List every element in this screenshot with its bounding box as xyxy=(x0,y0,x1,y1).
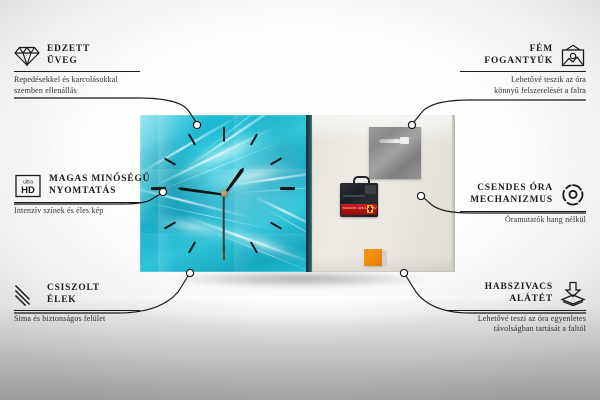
clock-face xyxy=(140,115,308,272)
callout-desc-line1: Intenzív színek és éles kép xyxy=(14,206,140,216)
clock-tick xyxy=(250,241,258,253)
callout-edzett-uveg[interactable]: EDZETT ÜVEG Repedésekkel és karcolásokka… xyxy=(14,44,140,96)
callout-rule xyxy=(14,71,140,72)
foam-pad xyxy=(364,249,382,266)
callout-csiszolt-elek[interactable]: CSISZOLT ÉLEK Sima és biztonságos felüle… xyxy=(14,283,140,325)
product-image: MIGNON LR6 AA 1.5V xyxy=(140,115,453,272)
callout-rule xyxy=(14,202,140,203)
callout-desc-line1: Óramutatók hang nélkül xyxy=(460,215,586,225)
callout-title-line1: EDZETT xyxy=(47,44,90,56)
foam-pad-icon xyxy=(560,281,586,306)
callout-rule xyxy=(446,310,586,311)
callout-desc-line1: Lehetővé teszik az óra xyxy=(460,75,586,85)
clock-tick xyxy=(270,221,282,229)
callout-csendes-ora-mechanizmus[interactable]: CSENDES ÓRA MECHANIZMUS Óramutatók hang … xyxy=(460,182,586,225)
callout-desc-line1: Repedésekkel és karcolásokkal xyxy=(14,75,140,85)
clock-front-panel xyxy=(140,115,308,272)
clock-tick xyxy=(188,241,196,253)
infographic-canvas: MIGNON LR6 AA 1.5V xyxy=(0,0,600,400)
callout-rule xyxy=(460,71,586,72)
battery-plus-terminal xyxy=(367,205,373,213)
clock-tick xyxy=(164,221,176,229)
mechanism-body: MIGNON LR6 AA 1.5V xyxy=(340,183,378,217)
callout-title-line1: CSISZOLT xyxy=(47,283,100,295)
callout-title-line2: MECHANIZMUS xyxy=(470,195,553,207)
clock-mechanism: MIGNON LR6 AA 1.5V xyxy=(340,176,378,217)
callout-magas-minosegu-nyomtatas[interactable]: ultra HD MAGAS MINŐSÉGŰ NYOMTATÁS Intenz… xyxy=(14,174,140,216)
clock-tick xyxy=(151,187,166,190)
second-hand xyxy=(223,195,225,253)
picture-hanger-icon xyxy=(560,44,586,67)
callout-title-line2: ÜVEG xyxy=(47,56,90,68)
hanger-hole xyxy=(400,137,409,144)
clock-tick xyxy=(280,187,295,190)
callout-title-line2: ALÁTÉT xyxy=(485,294,553,306)
diamond-icon xyxy=(14,45,40,67)
ultra-hd-icon: ultra HD xyxy=(14,174,42,198)
callout-title-line1: CSENDES ÓRA xyxy=(470,183,553,195)
callout-rule xyxy=(460,211,586,212)
callout-title-line1: MAGAS MINŐSÉGŰ xyxy=(49,174,150,186)
clock-tick xyxy=(164,157,176,165)
callout-desc-line1: Sima és biztonságos felület xyxy=(14,314,140,324)
callout-fem-fogantyuk[interactable]: FÉM FOGANTYÚK Lehetővé teszik az óra kön… xyxy=(460,44,586,96)
callout-title-line1: HABSZIVACS xyxy=(485,282,553,294)
clock-tick xyxy=(188,133,196,145)
callout-rule xyxy=(14,310,140,311)
clock-tick xyxy=(223,127,225,142)
clock-tick xyxy=(270,157,282,165)
callout-title-line1: FÉM xyxy=(484,44,553,56)
callout-desc-line2: távolságban tartását a faltól xyxy=(446,324,586,334)
callout-title-line2: NYOMTATÁS xyxy=(49,186,150,198)
callout-desc-line2: szemben ellenállás xyxy=(14,86,140,96)
bevelled-edges-icon xyxy=(14,284,40,306)
clock-center-cap xyxy=(221,190,228,197)
callout-desc-line1: Lehetővé teszi az óra egyenletes xyxy=(446,314,586,324)
minute-hand xyxy=(177,186,224,196)
metal-hanger xyxy=(369,127,421,179)
battery: MIGNON LR6 AA 1.5V xyxy=(341,204,377,215)
callout-desc-line2: könnyű felszerelését a falra xyxy=(460,86,586,96)
svg-text:HD: HD xyxy=(21,185,35,196)
callout-title-line2: ÉLEK xyxy=(47,295,100,307)
gear-icon xyxy=(560,182,586,207)
callout-title-line2: FOGANTYÚK xyxy=(484,56,553,68)
clock-tick xyxy=(250,133,258,145)
foam-pad-shadow xyxy=(382,251,387,266)
panel-right-edge xyxy=(452,115,455,272)
callout-habszivacs-alatet[interactable]: HABSZIVACS ALÁTÉT Lehetővé teszi az óra … xyxy=(446,281,586,335)
